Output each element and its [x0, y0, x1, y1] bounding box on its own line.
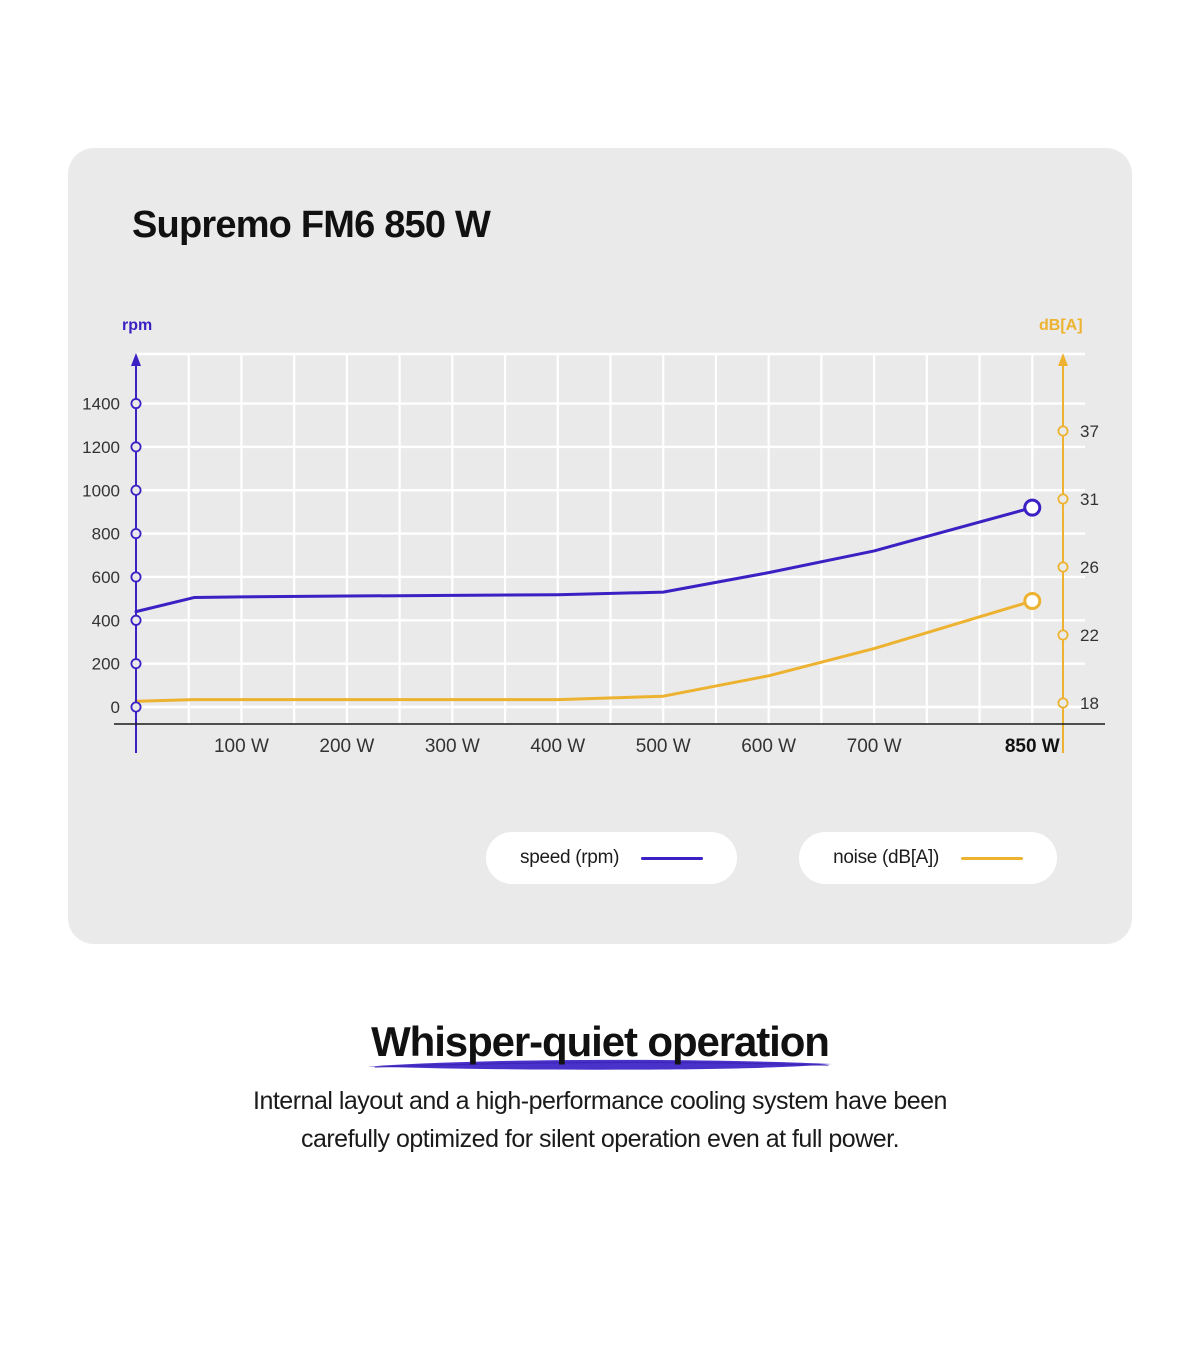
feature-footer: Whisper-quiet operation Internal layout …	[0, 1018, 1200, 1158]
footer-body-line-2: carefully optimized for silent operation…	[0, 1121, 1200, 1159]
series-lines	[136, 500, 1040, 701]
svg-text:1200: 1200	[82, 438, 120, 457]
footer-heading: Whisper-quiet operation	[371, 1018, 829, 1065]
svg-text:800: 800	[92, 525, 120, 544]
legend-item-noise[interactable]: noise (dB[A])	[799, 832, 1057, 884]
svg-text:400 W: 400 W	[530, 736, 585, 757]
legend-label-noise: noise (dB[A])	[833, 847, 939, 869]
svg-text:700 W: 700 W	[847, 736, 902, 757]
svg-text:26: 26	[1080, 558, 1099, 577]
chart-plot-area: 0200400600800100012001400rpm1822263137dB…	[68, 148, 1132, 944]
svg-text:600: 600	[92, 568, 120, 587]
footer-body-line-1: Internal layout and a high-performance c…	[0, 1083, 1200, 1121]
svg-text:1400: 1400	[82, 395, 120, 414]
footer-body-text: Internal layout and a high-performance c…	[0, 1083, 1200, 1158]
svg-text:0: 0	[111, 698, 120, 717]
line-chart-svg: 0200400600800100012001400rpm1822263137dB…	[68, 148, 1132, 944]
svg-text:400: 400	[92, 611, 120, 630]
svg-text:18: 18	[1080, 694, 1099, 713]
chart-card: Supremo FM6 850 W 0200400600800100012001…	[68, 148, 1132, 944]
legend-label-speed: speed (rpm)	[520, 847, 619, 869]
svg-text:850 W: 850 W	[1005, 736, 1060, 757]
svg-text:22: 22	[1080, 626, 1099, 645]
chart-legend: speed (rpm) noise (dB[A])	[486, 832, 1066, 884]
svg-text:200: 200	[92, 655, 120, 674]
svg-text:1000: 1000	[82, 481, 120, 500]
product-feature-page: Supremo FM6 850 W 0200400600800100012001…	[0, 0, 1200, 1372]
svg-text:100 W: 100 W	[214, 736, 269, 757]
svg-text:500 W: 500 W	[636, 736, 691, 757]
svg-text:rpm: rpm	[122, 317, 152, 334]
legend-swatch-noise	[961, 857, 1023, 860]
svg-text:200 W: 200 W	[319, 736, 374, 757]
legend-item-speed[interactable]: speed (rpm)	[486, 832, 737, 884]
footer-heading-wrapper: Whisper-quiet operation	[371, 1018, 829, 1065]
svg-text:31: 31	[1080, 490, 1099, 509]
grid-lines	[136, 354, 1085, 724]
svg-text:37: 37	[1080, 422, 1099, 441]
axis-labels: 0200400600800100012001400rpm1822263137dB…	[82, 317, 1099, 757]
legend-swatch-speed	[641, 857, 703, 860]
svg-text:600 W: 600 W	[741, 736, 796, 757]
svg-text:300 W: 300 W	[425, 736, 480, 757]
svg-text:dB[A]: dB[A]	[1039, 317, 1083, 334]
